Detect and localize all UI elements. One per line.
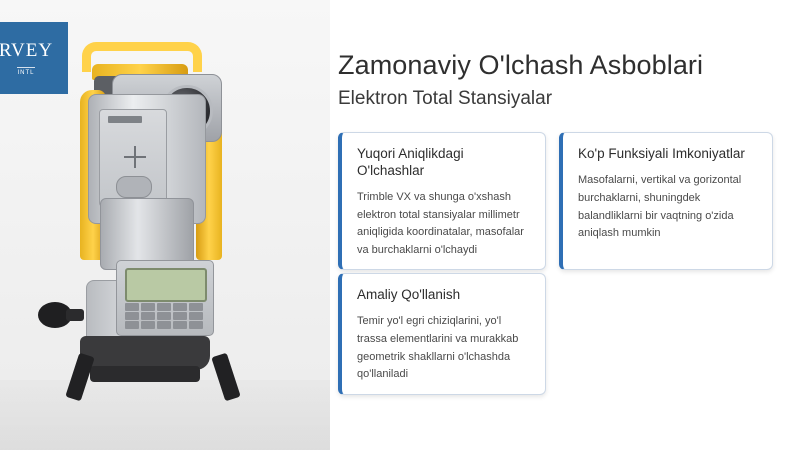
instrument-dial <box>116 176 152 198</box>
instrument-base-plate <box>90 366 200 382</box>
card-practical-use: Amaliy Qo'llanish Temir yo'l egri chiziq… <box>338 273 546 395</box>
instrument-tribrach <box>80 336 210 370</box>
brand-name: RVEY <box>0 40 53 62</box>
instrument-tangent-knob <box>38 302 72 328</box>
product-photo: RVEY INTL <box>0 0 330 450</box>
card-heading: Ko'p Funksiyali Imkoniyatlar <box>578 146 756 163</box>
card-heading: Yuqori Aniqlikdagi O'lchashlar <box>357 146 529 180</box>
slide: RVEY INTL Zamonaviy O'lchash Asboblari E… <box>0 0 800 450</box>
card-high-precision: Yuqori Aniqlikdagi O'lchashlar Trimble V… <box>338 132 546 270</box>
card-multifunction: Ko'p Funksiyali Imkoniyatlar Masofalarni… <box>559 132 773 270</box>
brand-subtitle: INTL <box>17 67 34 76</box>
page-subtitle: Elektron Total Stansiyalar <box>338 88 552 110</box>
page-title: Zamonaviy O'lchash Asboblari <box>338 50 703 81</box>
instrument-keypad <box>125 303 203 329</box>
instrument-control-panel <box>116 260 214 336</box>
card-body: Trimble VX va shunga o'xshash elektron t… <box>357 189 529 260</box>
card-body: Temir yo'l egri chiziqlarini, yo'l trass… <box>357 313 529 384</box>
instrument-right-leg <box>211 353 240 402</box>
instrument-display-screen <box>125 268 207 302</box>
instrument-upper-face <box>99 109 167 207</box>
card-heading: Amaliy Qo'llanish <box>357 287 529 304</box>
brand-badge: RVEY INTL <box>0 22 68 94</box>
slide-content: Zamonaviy O'lchash Asboblari Elektron To… <box>338 0 800 450</box>
total-station-illustration <box>28 40 278 410</box>
crosshair-icon <box>124 146 146 168</box>
instrument-brandmark <box>108 116 142 123</box>
card-body: Masofalarni, vertikal va gorizontal burc… <box>578 172 756 243</box>
